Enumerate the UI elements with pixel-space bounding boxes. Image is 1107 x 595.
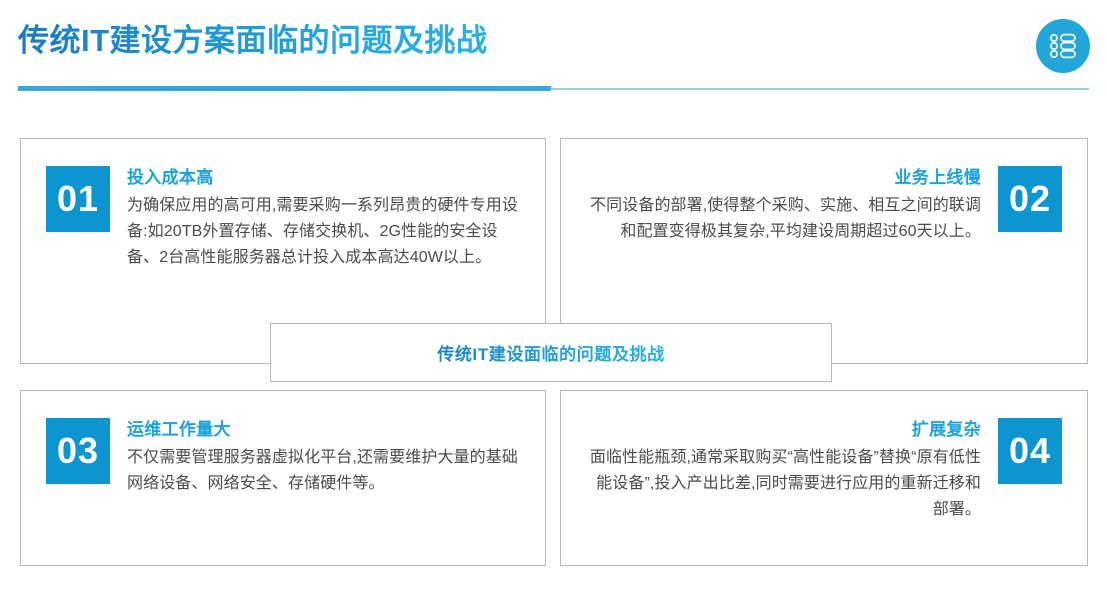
- card-body: 不同设备的部署,使得整个采购、实施、相互之间的联调和配置变得极其复杂,平均建设周…: [585, 193, 981, 245]
- card-number-badge: 04: [998, 418, 1062, 484]
- card-body: 不仅需要管理服务器虚拟化平台,还需要维护大量的基础网络设备、网络安全、存储硬件等…: [127, 445, 523, 497]
- header-rule-thick: [18, 86, 551, 91]
- card-body: 面临性能瓶颈,通常采取购买“高性能设备”替换“原有低性能设备”,投入产出比差,同…: [585, 445, 981, 523]
- card-inner: 03 运维工作量大 不仅需要管理服务器虚拟化平台,还需要维护大量的基础网络设备、…: [46, 418, 523, 497]
- card-number-badge: 03: [46, 418, 110, 484]
- card-text-block: 投入成本高 为确保应用的高可用,需要采购一系列昂贵的硬件专用设备:如20TB外置…: [127, 166, 523, 271]
- card-heading: 业务上线慢: [585, 166, 981, 189]
- card-text-block: 运维工作量大 不仅需要管理服务器虚拟化平台,还需要维护大量的基础网络设备、网络安…: [127, 418, 523, 497]
- problem-card-04[interactable]: 04 扩展复杂 面临性能瓶颈,通常采取购买“高性能设备”替换“原有低性能设备”,…: [560, 390, 1088, 566]
- card-text-block: 扩展复杂 面临性能瓶颈,通常采取购买“高性能设备”替换“原有低性能设备”,投入产…: [585, 418, 981, 523]
- card-body: 为确保应用的高可用,需要采购一系列昂贵的硬件专用设备:如20TB外置存储、存储交…: [127, 193, 523, 271]
- card-heading: 投入成本高: [127, 166, 523, 189]
- header-rule-thin: [551, 88, 1089, 90]
- center-summary-label: 传统IT建设面临的问题及挑战: [437, 340, 665, 365]
- slide-header: 传统IT建设方案面临的问题及挑战: [0, 0, 1107, 96]
- card-inner: 04 扩展复杂 面临性能瓶颈,通常采取购买“高性能设备”替换“原有低性能设备”,…: [585, 418, 1062, 523]
- card-number-badge: 02: [998, 166, 1062, 232]
- card-heading: 扩展复杂: [585, 418, 981, 441]
- card-text-block: 业务上线慢 不同设备的部署,使得整个采购、实施、相互之间的联调和配置变得极其复杂…: [585, 166, 981, 245]
- list-bars-icon[interactable]: [1036, 19, 1090, 73]
- card-heading: 运维工作量大: [127, 418, 523, 441]
- card-inner: 02 业务上线慢 不同设备的部署,使得整个采购、实施、相互之间的联调和配置变得极…: [585, 166, 1062, 245]
- slide-root: 传统IT建设方案面临的问题及挑战 01 投入成本高 为确保应用的高可用,需要采购…: [0, 0, 1107, 595]
- page-title: 传统IT建设方案面临的问题及挑战: [18, 21, 488, 61]
- center-summary-box: 传统IT建设面临的问题及挑战: [270, 323, 832, 382]
- card-inner: 01 投入成本高 为确保应用的高可用,需要采购一系列昂贵的硬件专用设备:如20T…: [46, 166, 523, 271]
- problem-card-03[interactable]: 03 运维工作量大 不仅需要管理服务器虚拟化平台,还需要维护大量的基础网络设备、…: [20, 390, 546, 566]
- card-number-badge: 01: [46, 166, 110, 232]
